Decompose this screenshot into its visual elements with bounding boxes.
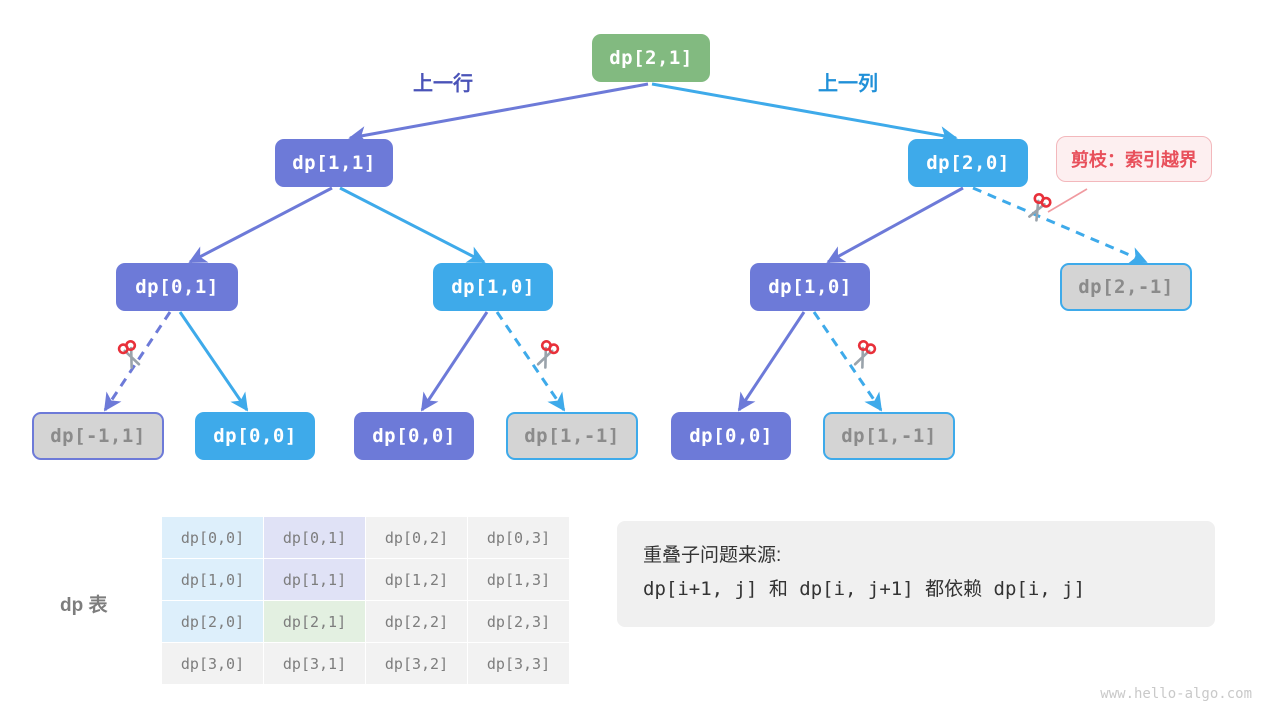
edge-dp10a-to-dp00 [422, 312, 487, 410]
branch-label-previous-column: 上一列 [818, 67, 878, 96]
table-cell: dp[1,3] [468, 559, 570, 601]
node-dp-2-minus1-pruned[interactable]: dp[2,-1] [1060, 263, 1192, 311]
table-cell: dp[1,0] [162, 559, 264, 601]
table-cell: dp[0,0] [162, 517, 264, 559]
edge-root-to-dp11 [350, 84, 648, 138]
table-row: dp[0,0] dp[0,1] dp[0,2] dp[0,3] [162, 517, 570, 559]
table-cell: dp[0,1] [264, 517, 366, 559]
diagram-canvas: dp[2,1] dp[1,1] dp[2,0] dp[0,1] dp[1,0] … [0, 0, 1280, 720]
node-dp-1-0-right[interactable]: dp[1,0] [750, 263, 870, 311]
table-cell: dp[1,2] [366, 559, 468, 601]
edge-dp20-to-dp2m1 [973, 188, 1146, 262]
table-cell: dp[3,2] [366, 643, 468, 685]
branch-label-previous-row: 上一行 [413, 67, 473, 96]
node-dp-1-0-left[interactable]: dp[1,0] [433, 263, 553, 311]
node-dp-0-1[interactable]: dp[0,1] [116, 263, 238, 311]
table-row: dp[2,0] dp[2,1] dp[2,2] dp[2,3] [162, 601, 570, 643]
table-cell: dp[3,1] [264, 643, 366, 685]
node-dp-0-0-a[interactable]: dp[0,0] [195, 412, 315, 460]
table-cell: dp[2,1] [264, 601, 366, 643]
table-row: dp[3,0] dp[3,1] dp[3,2] dp[3,3] [162, 643, 570, 685]
node-dp-2-0[interactable]: dp[2,0] [908, 139, 1028, 187]
table-cell: dp[2,0] [162, 601, 264, 643]
dp-table: dp[0,0] dp[0,1] dp[0,2] dp[0,3] dp[1,0] … [161, 516, 570, 685]
note-line-1: 重叠子问题来源: [643, 540, 1189, 567]
table-cell: dp[1,1] [264, 559, 366, 601]
watermark: www.hello-algo.com [1100, 686, 1252, 702]
dp-table-label: dp 表 [60, 590, 108, 617]
table-cell: dp[0,3] [468, 517, 570, 559]
node-dp-1-minus1-b-pruned[interactable]: dp[1,-1] [823, 412, 955, 460]
scissors-icon-dp1-minus1-b [847, 337, 881, 371]
table-cell: dp[3,0] [162, 643, 264, 685]
table-row: dp[1,0] dp[1,1] dp[1,2] dp[1,3] [162, 559, 570, 601]
node-root[interactable]: dp[2,1] [592, 34, 710, 82]
note-line-2: dp[i+1, j] 和 dp[i, j+1] 都依赖 dp[i, j] [643, 574, 1189, 601]
edge-dp11-to-dp10 [340, 188, 484, 262]
node-dp-1-1[interactable]: dp[1,1] [275, 139, 393, 187]
table-cell: dp[2,3] [468, 601, 570, 643]
node-dp-0-0-b[interactable]: dp[0,0] [354, 412, 474, 460]
edge-dp20-to-dp10 [828, 188, 963, 262]
scissors-icon-dp1-minus1-a [530, 337, 564, 371]
overlapping-subproblem-note: 重叠子问题来源: dp[i+1, j] 和 dp[i, j+1] 都依赖 dp[… [617, 521, 1215, 627]
table-cell: dp[0,2] [366, 517, 468, 559]
scissors-icon-dp2-minus1 [1022, 190, 1056, 224]
scissors-icon-dp-minus1-1 [113, 337, 147, 371]
node-dp-0-0-c[interactable]: dp[0,0] [671, 412, 791, 460]
node-dp-1-minus1-a-pruned[interactable]: dp[1,-1] [506, 412, 638, 460]
edge-root-to-dp20 [652, 84, 956, 138]
node-dp-minus1-1-pruned[interactable]: dp[-1,1] [32, 412, 164, 460]
table-cell: dp[3,3] [468, 643, 570, 685]
edge-dp10b-to-dp00 [739, 312, 804, 410]
edge-dp01-to-dp00 [180, 312, 247, 410]
edge-dp11-to-dp01 [190, 188, 332, 262]
table-cell: dp[2,2] [366, 601, 468, 643]
callout-pruning-index-out-of-bounds: 剪枝：索引越界 [1056, 136, 1212, 182]
